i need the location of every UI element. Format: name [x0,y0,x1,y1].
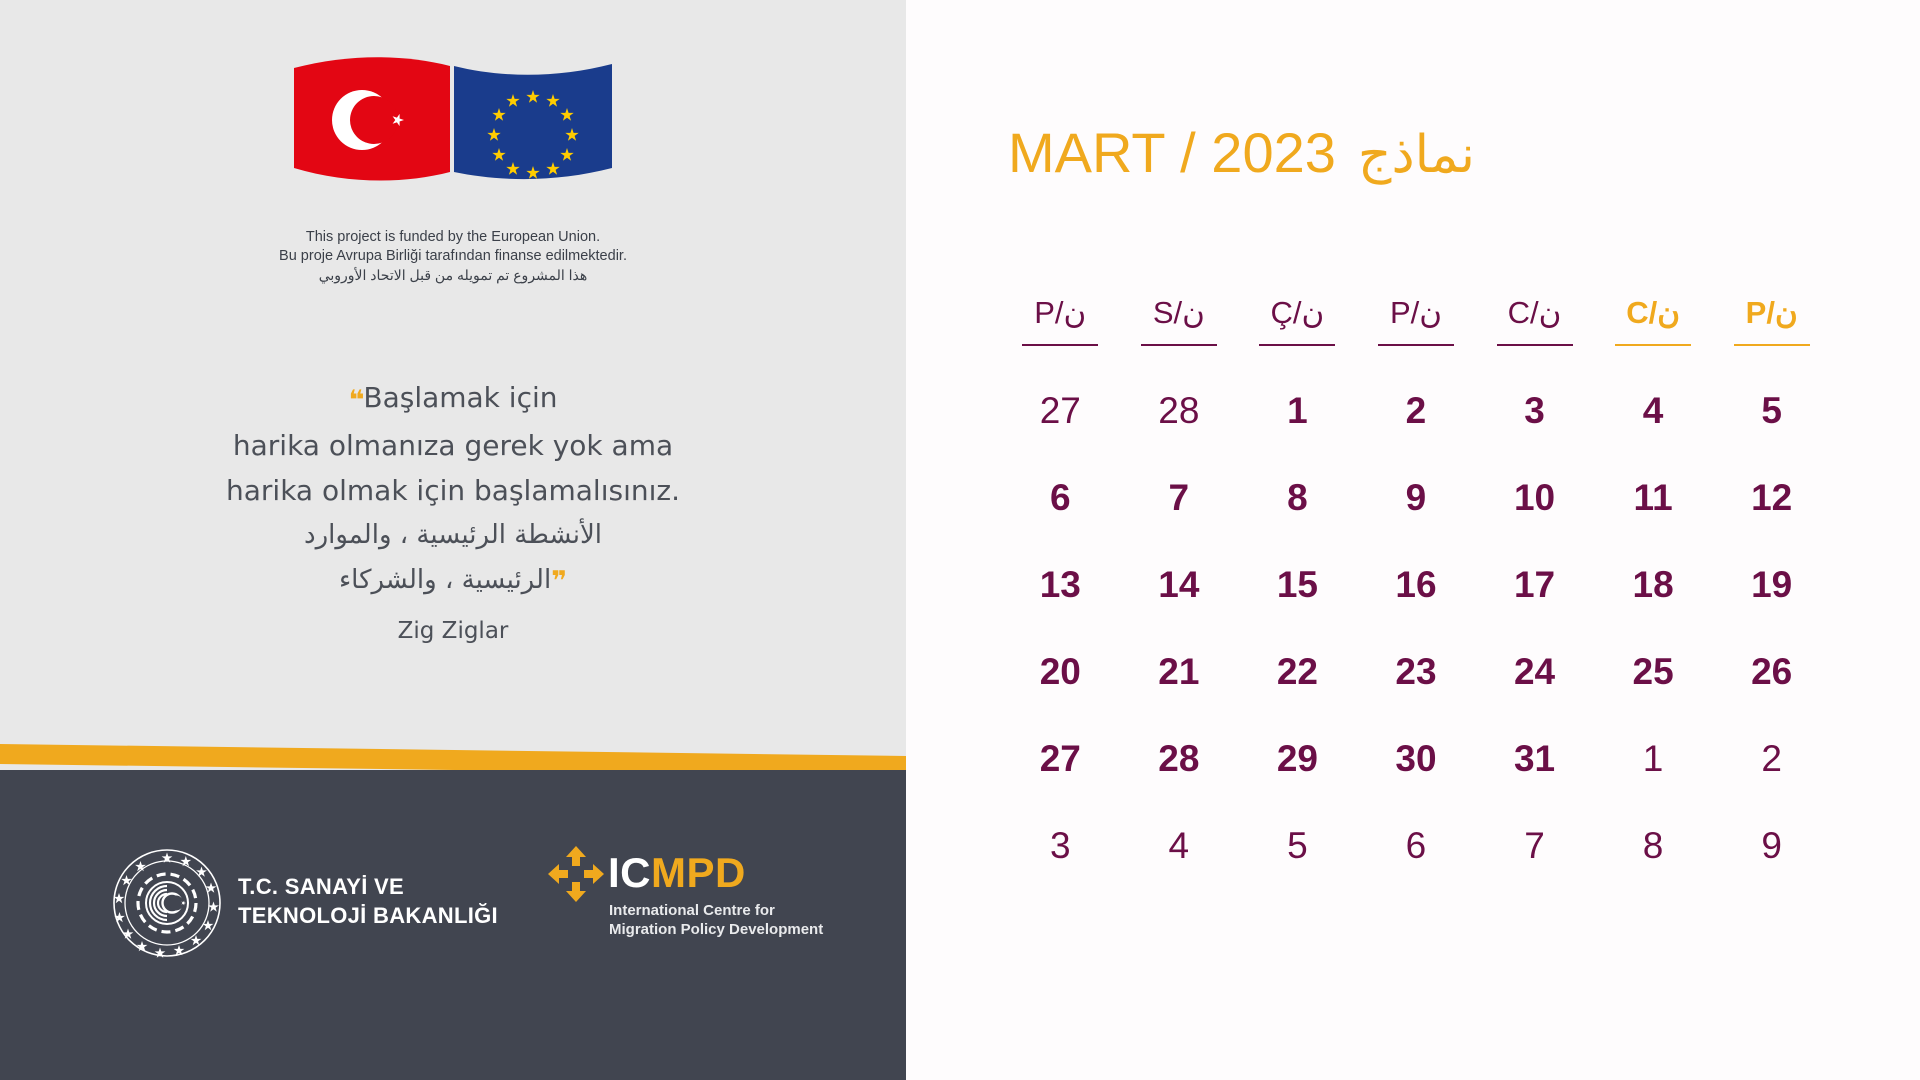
calendar-day-cell[interactable]: 21 [1120,628,1239,715]
calendar-day-cell[interactable]: 4 [1594,367,1713,454]
calendar-day-cell[interactable]: 8 [1594,802,1713,889]
calendar-week-row: 6789101112 [1001,454,1831,541]
ministry-seal-icon [112,848,222,958]
icmpd-tagline: International Centre for Migration Polic… [609,901,823,939]
quote-line-arabic-1: الأنشطة الرئيسية ، والموارد [0,513,906,558]
calendar-grid: P/نS/نÇ/نP/نC/نC/نP/ن 272812345678910111… [1001,295,1831,889]
calendar-day-cell[interactable]: 29 [1238,715,1357,802]
funding-line-turkish: Bu proje Avrupa Birliği tarafından finan… [0,247,906,266]
calendar-week-row: 13141516171819 [1001,541,1831,628]
weekday-header-1: S/ن [1120,295,1239,367]
weekday-header-label: Ç/ن [1259,295,1335,346]
calendar-day-cell[interactable]: 22 [1238,628,1357,715]
calendar-day-cell[interactable]: 17 [1475,541,1594,628]
calendar-day-cell[interactable]: 18 [1594,541,1713,628]
quote-line-arabic-2: ❞الرئيسية ، والشركاء [0,558,906,604]
calendar-weekday-header: P/نS/نÇ/نP/نC/نC/نP/ن [1001,295,1831,367]
calendar-day-cell[interactable]: 6 [1357,802,1476,889]
calendar-month-title: MART / 2023نماذج [906,122,1920,186]
calendar-day-cell[interactable]: 15 [1238,541,1357,628]
eu-funding-statement: This project is funded by the European U… [0,228,906,285]
calendar-day-cell[interactable]: 7 [1120,454,1239,541]
funding-line-arabic: هذا المشروع تم تمويله من قبل الاتحاد الأ… [0,266,906,285]
calendar-day-cell[interactable]: 1 [1594,715,1713,802]
calendar-day-cell[interactable]: 9 [1712,802,1831,889]
calendar-day-cell[interactable]: 30 [1357,715,1476,802]
ministry-name-line-2: TEKNOLOJİ BAKANLIĞI [238,901,498,930]
calendar-day-cell[interactable]: 28 [1120,715,1239,802]
icmpd-tagline-line-1: International Centre for [609,901,823,920]
weekday-header-2: Ç/ن [1238,295,1357,367]
calendar-day-cell[interactable]: 19 [1712,541,1831,628]
calendar-day-cell[interactable]: 25 [1594,628,1713,715]
calendar-week-row: 272812345 [1001,367,1831,454]
calendar-day-cell[interactable]: 14 [1120,541,1239,628]
left-panel: This project is funded by the European U… [0,0,906,1080]
calendar-day-cell[interactable]: 10 [1475,454,1594,541]
quote-block: ❝Başlamak için harika olmanıza gerek yok… [0,375,906,604]
calendar-day-cell[interactable]: 1 [1238,367,1357,454]
ministry-name-line-1: T.C. SANAYİ VE [238,872,498,901]
icmpd-wordmark: ICMPD [608,852,746,894]
calendar-day-cell[interactable]: 5 [1238,802,1357,889]
calendar-table: P/نS/نÇ/نP/نC/نC/نP/ن 272812345678910111… [1001,295,1831,889]
calendar-panel: MART / 2023نماذج P/نS/نÇ/نP/نC/نC/نP/ن 2… [906,0,1920,1080]
weekday-header-label: P/ن [1734,295,1810,346]
calendar-day-cell[interactable]: 3 [1475,367,1594,454]
weekday-header-label: P/ن [1378,295,1454,346]
calendar-day-cell[interactable]: 31 [1475,715,1594,802]
calendar-day-cell[interactable]: 26 [1712,628,1831,715]
weekday-header-row: P/نS/نÇ/نP/نC/نC/نP/ن [1001,295,1831,367]
calendar-day-cell[interactable]: 9 [1357,454,1476,541]
quote-line-1: ❝Başlamak için [0,375,906,423]
weekday-header-5: C/ن [1594,295,1713,367]
calendar-day-cell[interactable]: 27 [1001,367,1120,454]
weekday-header-label: S/ن [1141,295,1217,346]
calendar-day-cell[interactable]: 6 [1001,454,1120,541]
calendar-day-cell[interactable]: 24 [1475,628,1594,715]
calendar-day-cell[interactable]: 5 [1712,367,1831,454]
calendar-day-cell[interactable]: 27 [1001,715,1120,802]
weekday-header-label: C/ن [1497,295,1573,346]
icmpd-arrows-icon [548,846,604,902]
open-quote-icon: ❝ [349,385,364,416]
calendar-day-cell[interactable]: 20 [1001,628,1120,715]
weekday-header-4: C/ن [1475,295,1594,367]
calendar-day-cell[interactable]: 4 [1120,802,1239,889]
turkey-eu-flags-icon [288,50,618,190]
calendar-day-cell[interactable]: 2 [1357,367,1476,454]
quote-author: Zig Ziglar [0,618,906,644]
calendar-day-cell[interactable]: 28 [1120,367,1239,454]
calendar-day-cell[interactable]: 2 [1712,715,1831,802]
calendar-day-cell[interactable]: 7 [1475,802,1594,889]
calendar-month-title-latin: MART / 2023 [1008,121,1336,184]
calendar-day-cell[interactable]: 11 [1594,454,1713,541]
calendar-day-cell[interactable]: 3 [1001,802,1120,889]
footer-panel: T.C. SANAYİ VE TEKNOLOJİ BAKANLIĞI ICMPD… [0,770,906,1080]
weekday-header-label: C/ن [1615,295,1691,346]
footer-logos: T.C. SANAYİ VE TEKNOLOJİ BAKANLIĞI ICMPD… [0,838,906,998]
quote-line-2: harika olmanıza gerek yok ama [0,423,906,468]
calendar-day-cell[interactable]: 16 [1357,541,1476,628]
calendar-week-row: 272829303112 [1001,715,1831,802]
weekday-header-6: P/ن [1712,295,1831,367]
icmpd-wordmark-mpd: MPD [651,849,746,896]
calendar-day-cell[interactable]: 13 [1001,541,1120,628]
weekday-header-label: P/ن [1022,295,1098,346]
weekday-header-3: P/ن [1357,295,1476,367]
calendar-day-cell[interactable]: 8 [1238,454,1357,541]
calendar-day-cell[interactable]: 12 [1712,454,1831,541]
flags-container [0,50,906,194]
quote-line-arabic-2-text: الرئيسية ، والشركاء [339,565,551,595]
icmpd-wordmark-ic: IC [608,849,651,896]
quote-line-1-text: Başlamak için [363,381,557,414]
close-quote-icon: ❞ [551,566,567,597]
calendar-page: This project is funded by the European U… [0,0,1920,1080]
calendar-body: 2728123456789101112131415161718192021222… [1001,367,1831,889]
funding-line-english: This project is funded by the European U… [0,228,906,247]
calendar-week-row: 3456789 [1001,802,1831,889]
calendar-day-cell[interactable]: 23 [1357,628,1476,715]
quote-line-3: harika olmak için başlamalısınız. [0,468,906,513]
icmpd-tagline-line-2: Migration Policy Development [609,920,823,939]
calendar-month-title-arabic: نماذج [1358,126,1475,184]
calendar-week-row: 20212223242526 [1001,628,1831,715]
weekday-header-0: P/ن [1001,295,1120,367]
ministry-name: T.C. SANAYİ VE TEKNOLOJİ BAKANLIĞI [238,872,498,930]
